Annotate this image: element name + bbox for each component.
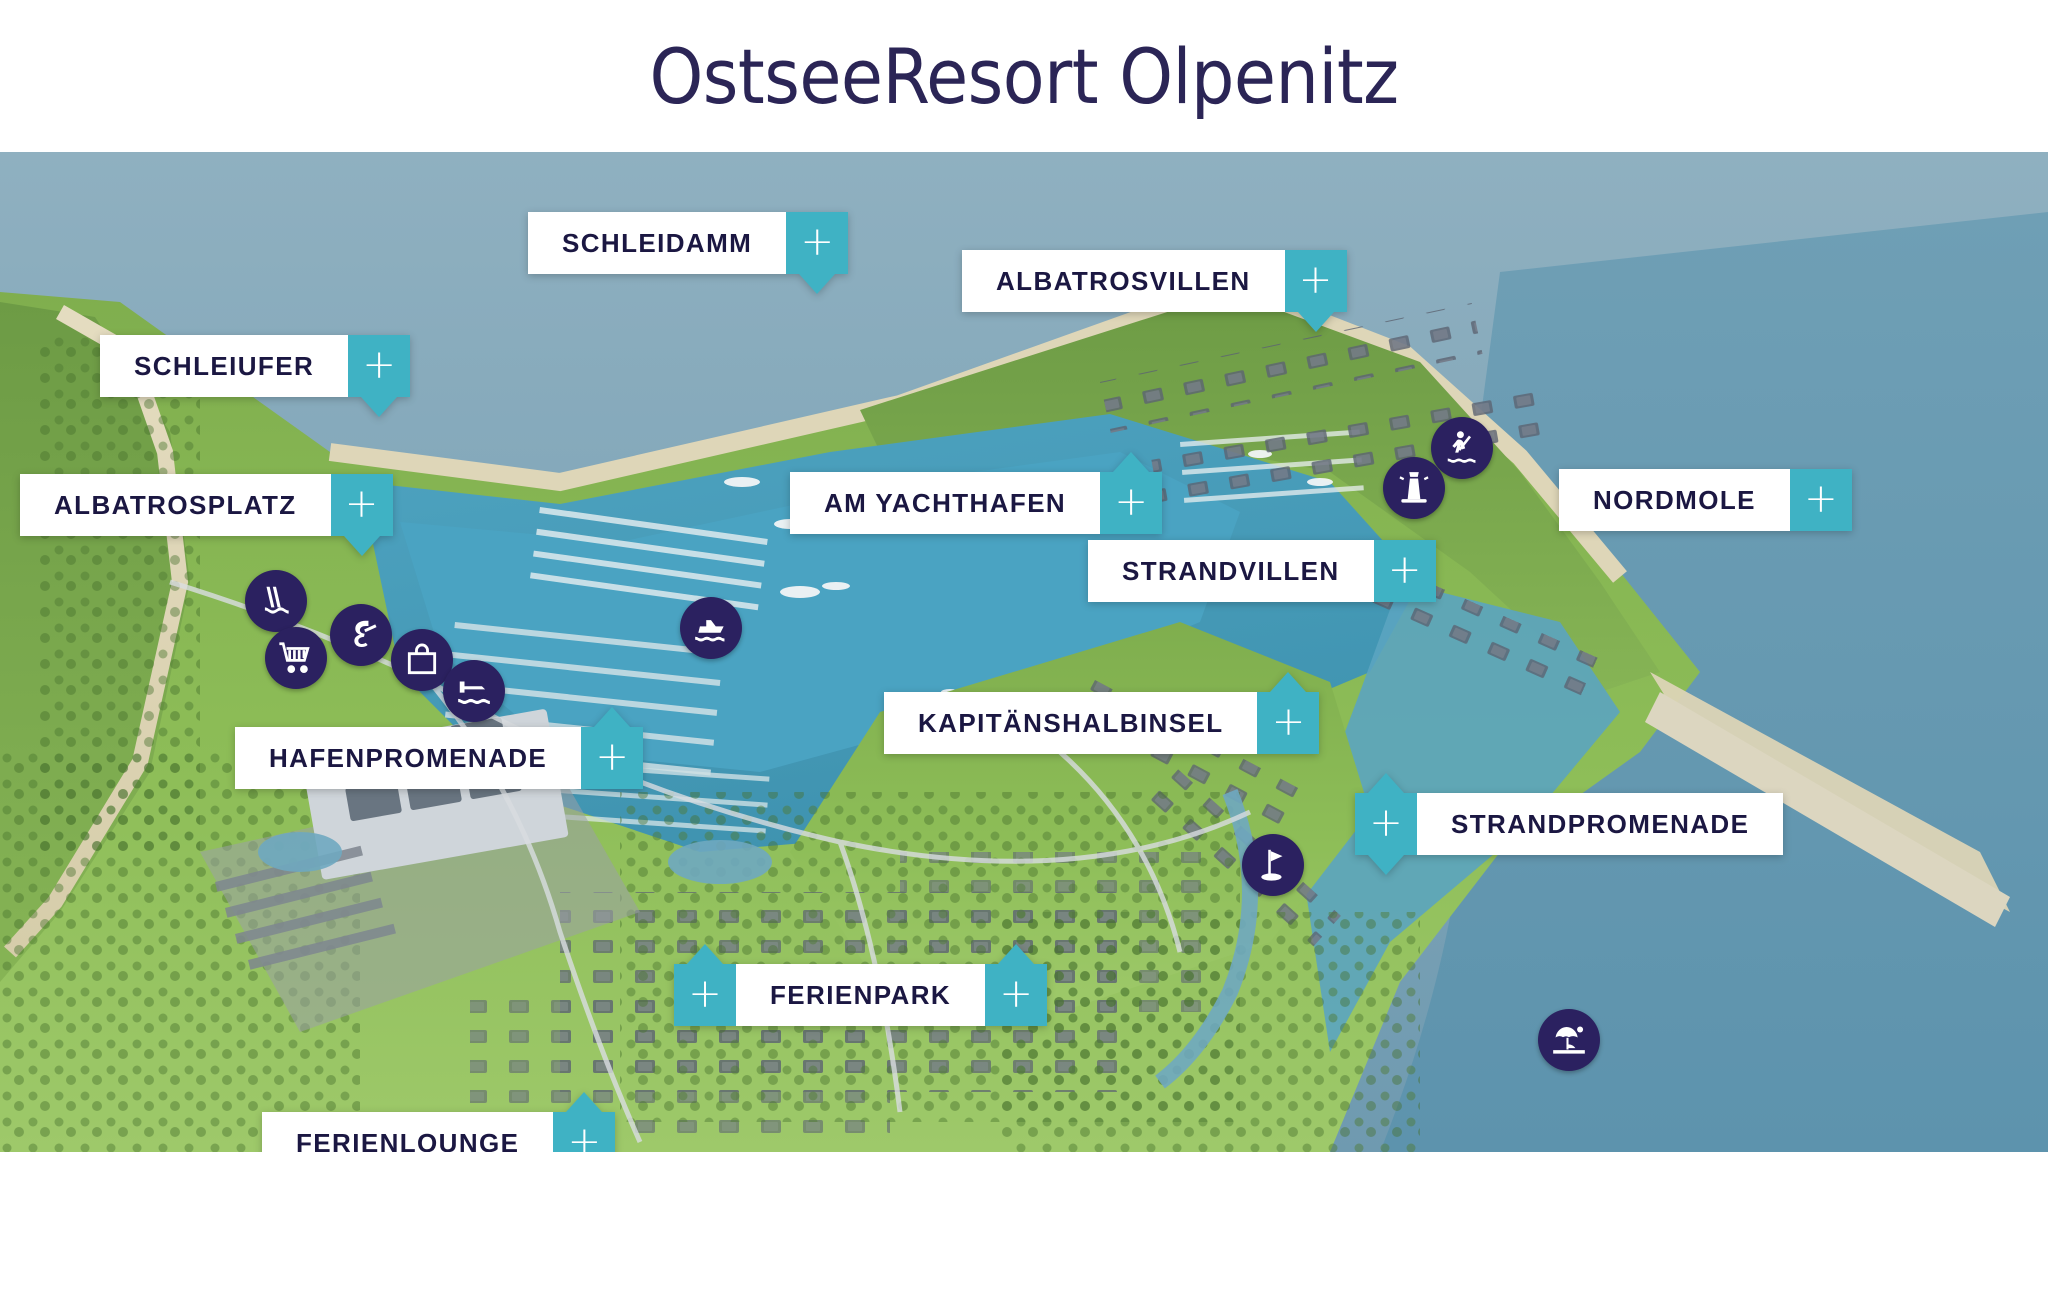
map-label-albatrosplatz-text: ALBATROSPLATZ	[20, 474, 331, 536]
map-label-strandvillen-text: STRANDVILLEN	[1088, 540, 1374, 602]
map-label-kapitaenshalbinsel-text: KAPITÄNSHALBINSEL	[884, 692, 1257, 754]
page-title: OstseeResort Olpenitz	[0, 0, 2048, 152]
map-label-kapitaenshalbinsel[interactable]: KAPITÄNSHALBINSEL +	[884, 692, 1319, 754]
map-label-nordmole-plus-button[interactable]: +	[1790, 469, 1852, 531]
map-label-nordmole-text: NORDMOLE	[1559, 469, 1790, 531]
map-label-albatrosvillen-plus-button[interactable]: +	[1285, 250, 1347, 312]
poi-motorboat[interactable]	[680, 597, 742, 659]
map-label-ferienpark-text: FERIENPARK	[736, 964, 985, 1026]
resort-map[interactable]: SCHLEIDAMM + ALBATROSVILLEN + SCHLEIUFER…	[0, 152, 2048, 1152]
map-label-strandpromenade[interactable]: + STRANDPROMENADE	[1355, 793, 1783, 855]
map-label-ferienlounge-plus-button[interactable]: +	[553, 1112, 615, 1152]
waterslide-icon	[257, 582, 295, 620]
map-label-schleidamm-text: SCHLEIDAMM	[528, 212, 786, 274]
map-label-ferienpark-plus-button-right[interactable]: +	[985, 964, 1047, 1026]
map-label-am-yachthafen-plus-button[interactable]: +	[1100, 472, 1162, 534]
map-label-schleiufer-text: SCHLEIUFER	[100, 335, 348, 397]
poi-lighthouse[interactable]	[1383, 457, 1445, 519]
map-label-strandvillen-plus-button[interactable]: +	[1374, 540, 1436, 602]
map-label-hafenpromenade[interactable]: HAFENPROMENADE +	[235, 727, 643, 789]
poi-paddleboard[interactable]	[1431, 417, 1493, 479]
golf-flag-icon	[1254, 846, 1292, 884]
paddleboard-icon	[1443, 429, 1481, 467]
poi-waterslide[interactable]	[245, 570, 307, 632]
map-label-ferienlounge[interactable]: FERIENLOUNGE +	[262, 1112, 615, 1152]
map-label-hafenpromenade-text: HAFENPROMENADE	[235, 727, 581, 789]
map-label-ferienlounge-text: FERIENLOUNGE	[262, 1112, 553, 1152]
map-label-kapitaenshalbinsel-plus-button[interactable]: +	[1257, 692, 1319, 754]
boat-ramp-icon	[455, 672, 493, 710]
map-label-schleiufer-plus-button[interactable]: +	[348, 335, 410, 397]
map-label-albatrosplatz-plus-button[interactable]: +	[331, 474, 393, 536]
map-label-ferienpark-plus-button-left[interactable]: +	[674, 964, 736, 1026]
shopping-bag-icon	[403, 641, 441, 679]
poi-waterski[interactable]	[330, 604, 392, 666]
waterski-icon	[342, 616, 380, 654]
map-label-am-yachthafen[interactable]: AM YACHTHAFEN +	[790, 472, 1162, 534]
poi-boatyard[interactable]	[443, 660, 505, 722]
poi-beach[interactable]	[1538, 1009, 1600, 1071]
map-label-strandpromenade-text: STRANDPROMENADE	[1417, 793, 1783, 855]
poi-shopping[interactable]	[265, 627, 327, 689]
shopping-cart-icon	[277, 639, 315, 677]
map-label-strandvillen[interactable]: STRANDVILLEN +	[1088, 540, 1436, 602]
map-label-am-yachthafen-text: AM YACHTHAFEN	[790, 472, 1100, 534]
beach-umbrella-icon	[1550, 1021, 1588, 1059]
poi-golf[interactable]	[1242, 834, 1304, 896]
map-label-schleidamm[interactable]: SCHLEIDAMM +	[528, 212, 848, 274]
map-label-schleiufer[interactable]: SCHLEIUFER +	[100, 335, 410, 397]
map-label-hafenpromenade-plus-button[interactable]: +	[581, 727, 643, 789]
map-label-albatrosvillen[interactable]: ALBATROSVILLEN +	[962, 250, 1347, 312]
map-label-schleidamm-plus-button[interactable]: +	[786, 212, 848, 274]
lighthouse-icon	[1395, 469, 1433, 507]
map-label-ferienpark[interactable]: + FERIENPARK +	[674, 964, 1047, 1026]
map-label-albatrosvillen-text: ALBATROSVILLEN	[962, 250, 1285, 312]
map-label-strandpromenade-plus-button[interactable]: +	[1355, 793, 1417, 855]
motorboat-icon	[692, 609, 730, 647]
map-label-nordmole[interactable]: NORDMOLE +	[1559, 469, 1852, 531]
map-label-albatrosplatz[interactable]: ALBATROSPLATZ +	[20, 474, 393, 536]
